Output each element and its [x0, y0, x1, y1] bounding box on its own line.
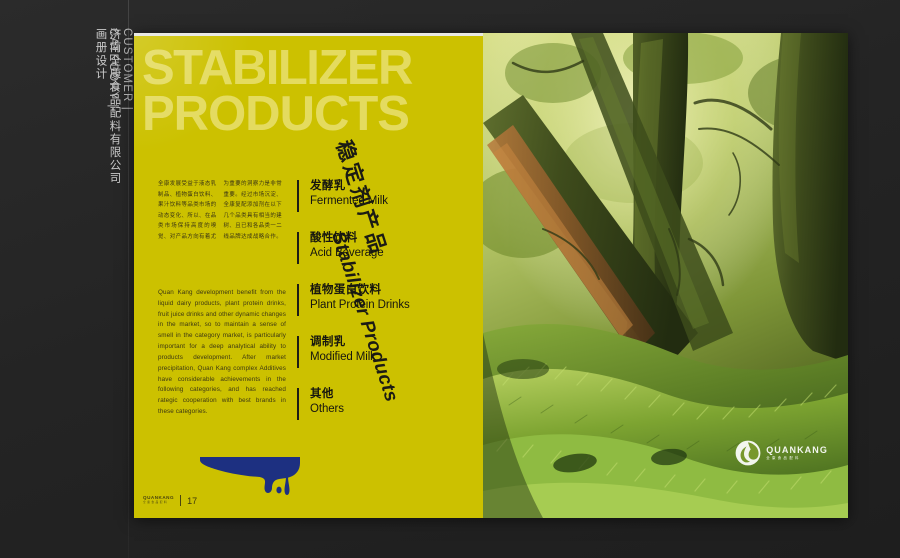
list-item-label-cn: 植物蛋白饮料: [310, 282, 467, 298]
watermark-sub: 全康食品配料: [766, 457, 828, 460]
footer-divider: [180, 495, 181, 506]
right-page-photo: QUANKANG 全康食品配料: [483, 33, 848, 518]
rail-category-value: 画册设计: [94, 28, 106, 80]
list-item-label-cn: 酸性饮料: [310, 230, 467, 246]
list-item: 发酵乳 Fermented Milk: [297, 178, 467, 209]
list-item-label-en: Modified Milk: [310, 350, 467, 366]
rail-customer-label: CUSTOMER |: [121, 28, 133, 111]
footer-logo-sub: 全康食品配料: [143, 502, 174, 505]
brochure-spread: STABILIZER PRODUCTS 稳定剂产品 Stabilizer Pro…: [134, 33, 848, 518]
watermark-name: QUANKANG: [766, 446, 828, 455]
list-item-rule: [297, 284, 299, 316]
english-body-text: Quan Kang development benefit from the l…: [158, 288, 286, 418]
list-item: 酸性饮料 Acid Beverage: [297, 230, 467, 261]
list-item: 调制乳 Modified Milk: [297, 334, 467, 365]
rail-divider: [128, 0, 129, 558]
list-item-label-cn: 发酵乳: [310, 178, 467, 194]
list-item-rule: [297, 388, 299, 420]
title-line-2: PRODUCTS: [142, 91, 483, 137]
page-number: 17: [187, 496, 197, 506]
footer-logo: QUANKANG 全康食品配料: [143, 496, 174, 504]
list-item-label-en: Plant Protein Drinks: [310, 298, 467, 314]
page-top-edge: [134, 33, 483, 36]
rail-category-label: CATEGORY |: [107, 28, 119, 108]
list-item-rule: [297, 232, 299, 264]
page-footer: QUANKANG 全康食品配料 17: [143, 495, 197, 506]
list-item: 植物蛋白饮料 Plant Protein Drinks: [297, 282, 467, 313]
list-item-rule: [297, 336, 299, 368]
quankang-watermark: QUANKANG 全康食品配料: [735, 440, 828, 466]
list-item-label-cn: 其他: [310, 386, 467, 402]
list-item: 其他 Others: [297, 386, 467, 417]
list-item-label-en: Others: [310, 402, 467, 418]
chinese-body-text: 全康发展受益于液态乳制品、植物蛋白饮料、果汁饮料等品类市场的动态变化、所以、在品…: [158, 179, 282, 242]
blue-paint-drip-graphic: [200, 457, 300, 497]
list-item-label-en: Acid Beverage: [310, 246, 467, 262]
page-title: STABILIZER PRODUCTS: [142, 45, 483, 137]
meta-rail-category: CATEGORY | 画册设计: [56, 28, 118, 358]
list-item-label-cn: 调制乳: [310, 334, 467, 350]
product-category-list: 发酵乳 Fermented Milk 酸性饮料 Acid Beverage 植物…: [297, 178, 467, 417]
quankang-leaf-logo-icon: [735, 440, 761, 466]
left-page: STABILIZER PRODUCTS 稳定剂产品 Stabilizer Pro…: [134, 33, 483, 518]
list-item-rule: [297, 180, 299, 212]
screenshot-stage: CUSTOMER | 济南全康食品配料有限公司 CATEGORY | 画册设计 …: [0, 0, 900, 558]
list-item-label-en: Fermented Milk: [310, 194, 467, 210]
title-line-1: STABILIZER: [142, 45, 483, 91]
watermark-text: QUANKANG 全康食品配料: [766, 446, 828, 461]
